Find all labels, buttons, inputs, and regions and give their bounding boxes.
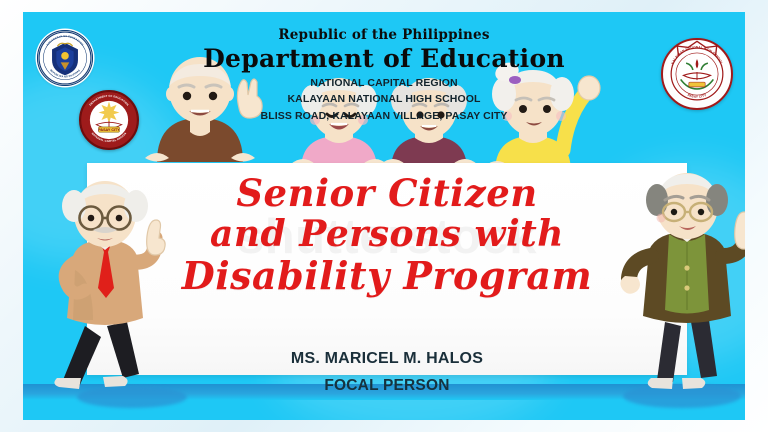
- elderly-man-green-vest: [619, 172, 745, 394]
- region-line: NATIONAL CAPITAL REGION: [23, 77, 745, 91]
- republic-line: Republic of the Philippines: [23, 28, 745, 43]
- title-line-1: Senior Citizen: [87, 173, 687, 214]
- presenter-name: MS. MARICEL M. HALOS: [87, 350, 687, 368]
- title-banner: shutterstock Senior Citizen and Persons …: [87, 163, 687, 375]
- presentation-slide: Republic of the Philippines Department o…: [23, 12, 745, 420]
- kalayaan-nhs-seal-icon: KALAYAAN NATIONAL HIGH SCHOOL PASAY CITY: [661, 38, 733, 110]
- svg-text:PASAY CITY: PASAY CITY: [98, 128, 120, 132]
- presenter-role: FOCAL PERSON: [87, 377, 687, 395]
- deped-ncr-seal-icon: PASAY CITY DEPARTMENT OF EDUCATION NATIO…: [79, 90, 139, 150]
- title-line-2: and Persons with: [87, 214, 687, 254]
- slide-canvas: Republic of the Philippines Department o…: [0, 0, 768, 432]
- elderly-man-glasses-red-tie: [41, 180, 169, 396]
- slide-title: Senior Citizen and Persons with Disabili…: [87, 173, 687, 297]
- title-line-3: Disability Program: [87, 255, 687, 298]
- department-line: Department of Education: [23, 45, 745, 74]
- deped-seal-icon: KAGAWARAN NG EDUKASYON REPUBLIKA NG PILI…: [37, 30, 93, 86]
